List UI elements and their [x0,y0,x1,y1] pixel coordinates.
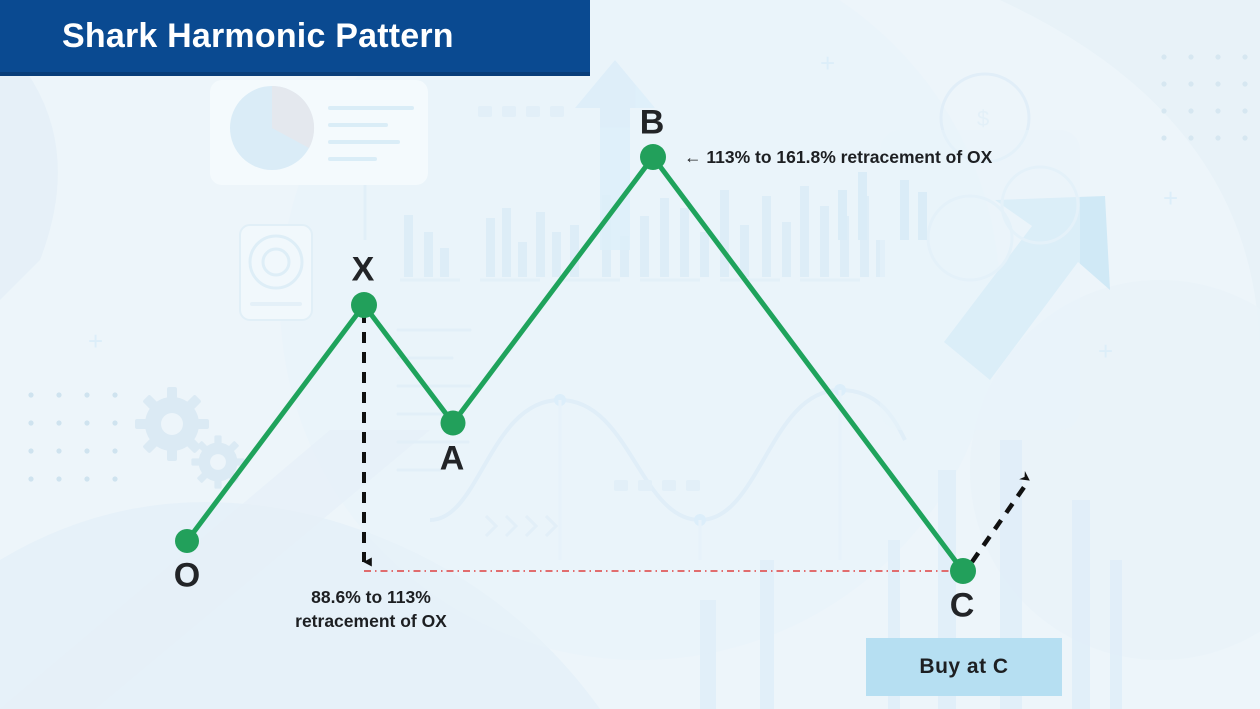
shark-harmonic-pattern-infographic: + + + + $ [0,0,1260,709]
annotation-ox-line1: 88.6% to 113% [256,585,486,609]
annotation-ox-retracement: 88.6% to 113% retracement of OX [256,585,486,633]
buy-signal-label: Buy at C [919,655,1008,679]
node-o [175,529,199,553]
annotation-b-retracement: ← 113% to 161.8% retracement of OX [684,145,992,169]
annotation-ox-line2: retracement of OX [256,609,486,633]
node-label-o: O [174,557,200,596]
node-label-c: C [950,587,975,626]
shark-pattern-chart [0,0,1260,709]
node-b [640,144,666,170]
node-label-b: B [640,104,665,143]
node-a [441,411,466,436]
node-label-x: X [352,251,375,290]
buy-signal-box: Buy at C [866,638,1062,696]
node-c [950,558,976,584]
pattern-line [187,157,963,571]
node-label-a: A [440,440,465,479]
node-x [351,292,377,318]
breakout-arrow-guide [972,480,1029,562]
